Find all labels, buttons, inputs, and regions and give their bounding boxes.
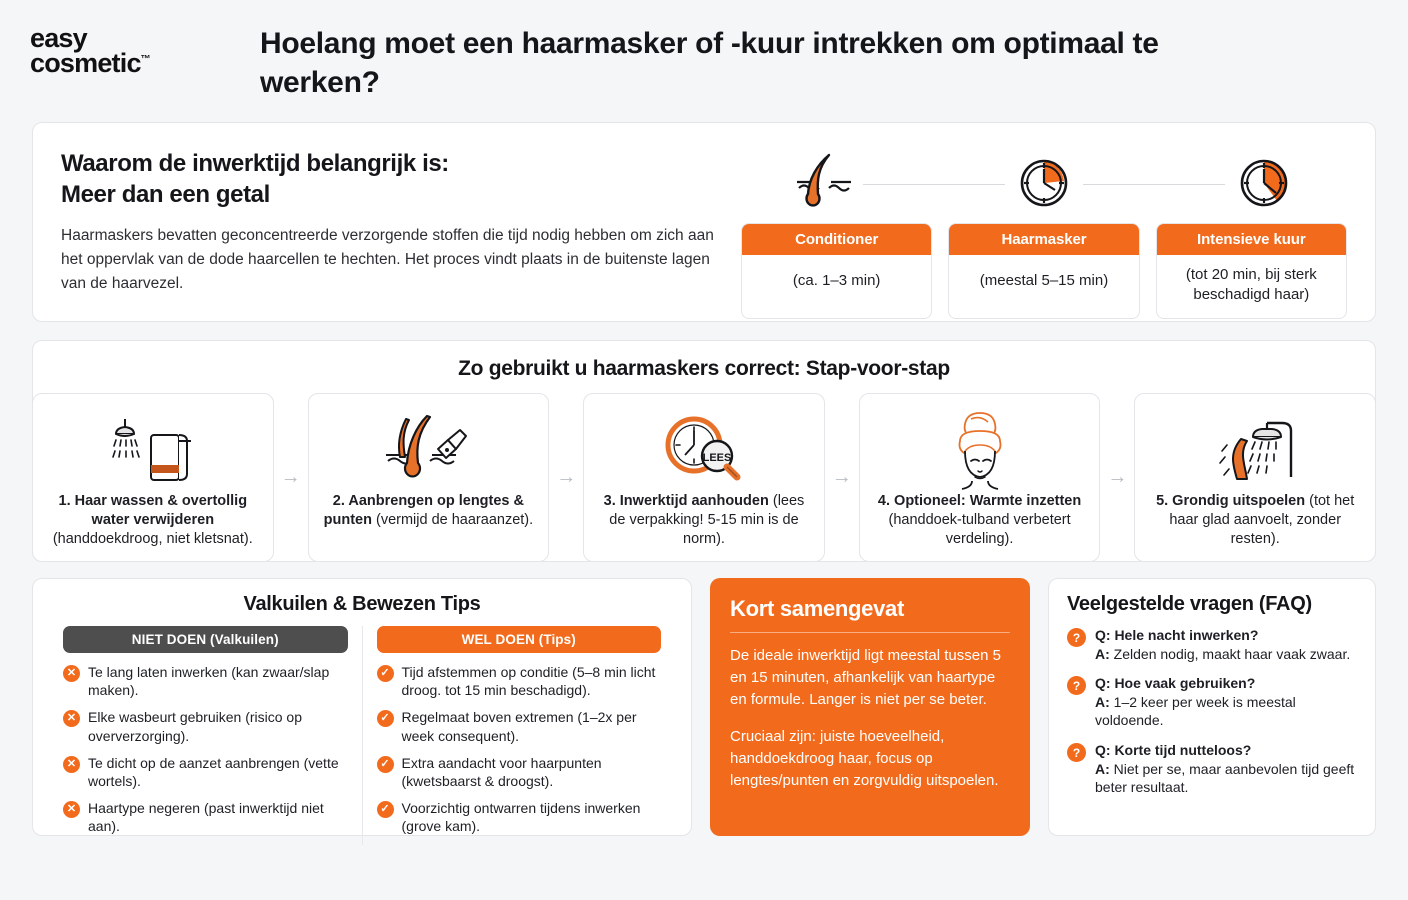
faq-answer-label: A: — [1095, 761, 1110, 777]
why-timing-paragraph: Haarmaskers bevatten geconcentreerde ver… — [61, 224, 721, 296]
shower-rinse-icon — [1205, 406, 1305, 492]
summary-card: Kort samengevat De ideale inwerktijd lig… — [710, 578, 1030, 836]
page-title: Hoelang moet een haarmasker of -kuur int… — [260, 18, 1260, 102]
connector-line-1 — [863, 184, 1005, 185]
step-4-rest: (handdoek-tulband verbetert verdeling). — [888, 512, 1070, 547]
clock-third-icon — [1229, 157, 1299, 211]
list-item: ✓ Tijd afstemmen op conditie (5–8 min li… — [377, 663, 662, 699]
check-circle-icon: ✓ — [377, 801, 394, 818]
shower-towel-icon — [103, 406, 203, 492]
question-circle-icon: ? — [1067, 743, 1086, 762]
infographic-body: Waarom de inwerktijd belangrijk is: Meer… — [0, 122, 1408, 900]
faq-answer-label: A: — [1095, 646, 1110, 662]
step-1-wash-hair: 1. Haar wassen & overtollig water verwij… — [32, 393, 274, 562]
faq-answer: 1–2 keer per week is meestal voldoende. — [1095, 694, 1296, 729]
dont-column: NIET DOEN (Valkuilen) ✕ Te lang laten in… — [49, 626, 362, 845]
faq-question: Q: Korte tijd nutteloos? — [1095, 741, 1357, 760]
step-arrow-3: → — [825, 393, 859, 562]
list-item: ✓ Regelmaat boven extremen (1–2x per wee… — [377, 708, 662, 744]
do-column: WEL DOEN (Tips) ✓ Tijd afstemmen op cond… — [362, 626, 676, 845]
clock-magnifier-lees-icon: LEES — [654, 406, 754, 492]
summary-paragraph-2: Cruciaal zijn: juiste hoeveelheid, handd… — [730, 726, 1010, 791]
step-2-apply: 2. Aanbrengen op lengtes & punten (vermi… — [308, 393, 550, 562]
question-circle-icon: ? — [1067, 676, 1086, 695]
steps-card: Zo gebruikt u haarmaskers correct: Stap-… — [32, 340, 1376, 562]
faq-answer-label: A: — [1095, 694, 1110, 710]
list-item: ✕ Haartype negeren (past inwerktijd niet… — [63, 799, 348, 835]
check-circle-icon: ✓ — [377, 756, 394, 773]
do-item-text: Regelmaat boven extremen (1–2x per week … — [402, 708, 662, 744]
badge-time: (ca. 1–3 min) — [742, 255, 931, 309]
faq-answer: Niet per se, maar aanbevolen tijd geeft … — [1095, 761, 1354, 796]
step-2-rest: (vermijd de haaraanzet). — [376, 512, 533, 528]
do-item-text: Tijd afstemmen op conditie (5–8 min lich… — [402, 663, 662, 699]
faq-question: Q: Hele nacht inwerken? — [1095, 626, 1350, 645]
question-circle-icon: ? — [1067, 628, 1086, 647]
faq-question: Q: Hoe vaak gebruiken? — [1095, 674, 1357, 693]
step-3-text: 3. Inwerktijd aanhouden (lees de verpakk… — [594, 492, 814, 549]
cross-circle-icon: ✕ — [63, 801, 80, 818]
step-3-bold: 3. Inwerktijd aanhouden — [604, 493, 769, 509]
page-header: easy cosmetic™ Hoelang moet een haarmask… — [0, 0, 1408, 122]
hair-follicle-icon — [789, 152, 859, 216]
list-item: ✓ Voorzichtig ontwarren tijdens inwerken… — [377, 799, 662, 835]
cross-circle-icon: ✕ — [63, 710, 80, 727]
summary-divider — [730, 632, 1010, 633]
check-circle-icon: ✓ — [377, 710, 394, 727]
steps-section-title: Zo gebruikt u haarmaskers correct: Stap-… — [33, 357, 1375, 381]
step-1-rest: (handdoekdroog, niet kletsnat). — [53, 531, 253, 547]
step-4-text: 4. Optioneel: Warmte inzetten (handdoek-… — [870, 492, 1090, 549]
step-arrow-1: → — [274, 393, 308, 562]
infographic-page: easy cosmetic™ Hoelang moet een haarmask… — [0, 0, 1408, 900]
why-timing-text: Waarom de inwerktijd belangrijk is: Meer… — [61, 149, 741, 296]
connector-line-2 — [1083, 184, 1225, 185]
product-timing-group: Conditioner (ca. 1–3 min) Haarmasker (me… — [741, 149, 1347, 319]
badge-time: (tot 20 min, bij sterk beschadigd haar) — [1157, 255, 1346, 318]
list-item: ? Q: Hele nacht inwerken? A: Zelden nodi… — [1067, 626, 1357, 663]
step-arrow-2: → — [549, 393, 583, 562]
list-item: ✕ Te lang laten inwerken (kan zwaar/slap… — [63, 663, 348, 699]
cross-circle-icon: ✕ — [63, 665, 80, 682]
dont-item-text: Te dicht op de aanzet aanbrengen (vette … — [88, 754, 348, 790]
step-3-wait-time: LEES 3. Inwerktijd aanhouden (lees de ve… — [583, 393, 825, 562]
step-4-heat: 4. Optioneel: Warmte inzetten (handdoek-… — [859, 393, 1101, 562]
step-5-bold: 5. Grondig uitspoelen — [1156, 493, 1305, 509]
summary-paragraph-1: De ideale inwerktijd ligt meestal tussen… — [730, 645, 1010, 710]
badge-title: Conditioner — [742, 224, 931, 255]
brand-logo: easy cosmetic™ — [0, 18, 260, 76]
why-heading-line1: Waarom de inwerktijd belangrijk is: — [61, 150, 449, 177]
step-5-text: 5. Grondig uitspoelen (tot het haar glad… — [1145, 492, 1365, 549]
towel-turban-head-icon — [930, 406, 1030, 492]
timing-badge-conditioner: Conditioner (ca. 1–3 min) — [741, 223, 932, 319]
step-4-bold: 4. Optioneel: Warmte inzetten — [878, 493, 1081, 509]
step-arrow-4: → — [1100, 393, 1134, 562]
pitfalls-tips-title: Valkuilen & Bewezen Tips — [49, 593, 675, 616]
badge-title: Intensieve kuur — [1157, 224, 1346, 255]
faq-title: Veelgestelde vragen (FAQ) — [1067, 593, 1357, 616]
faq-answer: Zelden nodig, maakt haar vaak zwaar. — [1110, 646, 1350, 662]
faq-card: Veelgestelde vragen (FAQ) ? Q: Hele nach… — [1048, 578, 1376, 836]
step-1-bold: 1. Haar wassen & overtollig water verwij… — [59, 493, 248, 528]
steps-row: 1. Haar wassen & overtollig water verwij… — [32, 393, 1376, 562]
do-item-text: Extra aandacht voor haarpunten (kwetsbaa… — [402, 754, 662, 790]
cross-circle-icon: ✕ — [63, 756, 80, 773]
clock-quarter-icon — [1009, 157, 1079, 211]
bottom-row: Valkuilen & Bewezen Tips NIET DOEN (Valk… — [32, 578, 1376, 836]
badge-title: Haarmasker — [949, 224, 1138, 255]
step-1-text: 1. Haar wassen & overtollig water verwij… — [43, 492, 263, 549]
do-item-text: Voorzichtig ontwarren tijdens inwerken (… — [402, 799, 662, 835]
check-circle-icon: ✓ — [377, 665, 394, 682]
magnifier-label: LEES — [703, 452, 732, 464]
hair-brush-apply-icon — [378, 406, 478, 492]
list-item: ✕ Elke wasbeurt gebruiken (risico op ove… — [63, 708, 348, 744]
dont-item-text: Haartype negeren (past inwerktijd niet a… — [88, 799, 348, 835]
why-timing-heading: Waarom de inwerktijd belangrijk is: Meer… — [61, 149, 721, 210]
timing-badge-intensieve-kuur: Intensieve kuur (tot 20 min, bij sterk b… — [1156, 223, 1347, 319]
trademark-symbol: ™ — [141, 54, 150, 65]
list-item: ? Q: Hoe vaak gebruiken? A: 1–2 keer per… — [1067, 674, 1357, 730]
list-item: ✓ Extra aandacht voor haarpunten (kwetsb… — [377, 754, 662, 790]
dont-item-text: Elke wasbeurt gebruiken (risico op overv… — [88, 708, 348, 744]
why-timing-card: Waarom de inwerktijd belangrijk is: Meer… — [32, 122, 1376, 322]
dont-pill: NIET DOEN (Valkuilen) — [63, 626, 348, 653]
timing-icon-row — [741, 151, 1347, 223]
step-5-rinse: 5. Grondig uitspoelen (tot het haar glad… — [1134, 393, 1376, 562]
brand-name-line2: cosmetic — [30, 48, 141, 78]
list-item: ? Q: Korte tijd nutteloos? A: Niet per s… — [1067, 741, 1357, 797]
step-2-text: 2. Aanbrengen op lengtes & punten (vermi… — [319, 492, 539, 530]
summary-title: Kort samengevat — [730, 596, 1010, 622]
list-item: ✕ Te dicht op de aanzet aanbrengen (vett… — [63, 754, 348, 790]
timing-badge-haarmasker: Haarmasker (meestal 5–15 min) — [948, 223, 1139, 319]
pitfalls-tips-card: Valkuilen & Bewezen Tips NIET DOEN (Valk… — [32, 578, 692, 836]
badge-time: (meestal 5–15 min) — [949, 255, 1138, 309]
dont-item-text: Te lang laten inwerken (kan zwaar/slap m… — [88, 663, 348, 699]
timing-badge-row: Conditioner (ca. 1–3 min) Haarmasker (me… — [741, 223, 1347, 319]
why-heading-line2: Meer dan een getal — [61, 181, 270, 208]
do-pill: WEL DOEN (Tips) — [377, 626, 662, 653]
